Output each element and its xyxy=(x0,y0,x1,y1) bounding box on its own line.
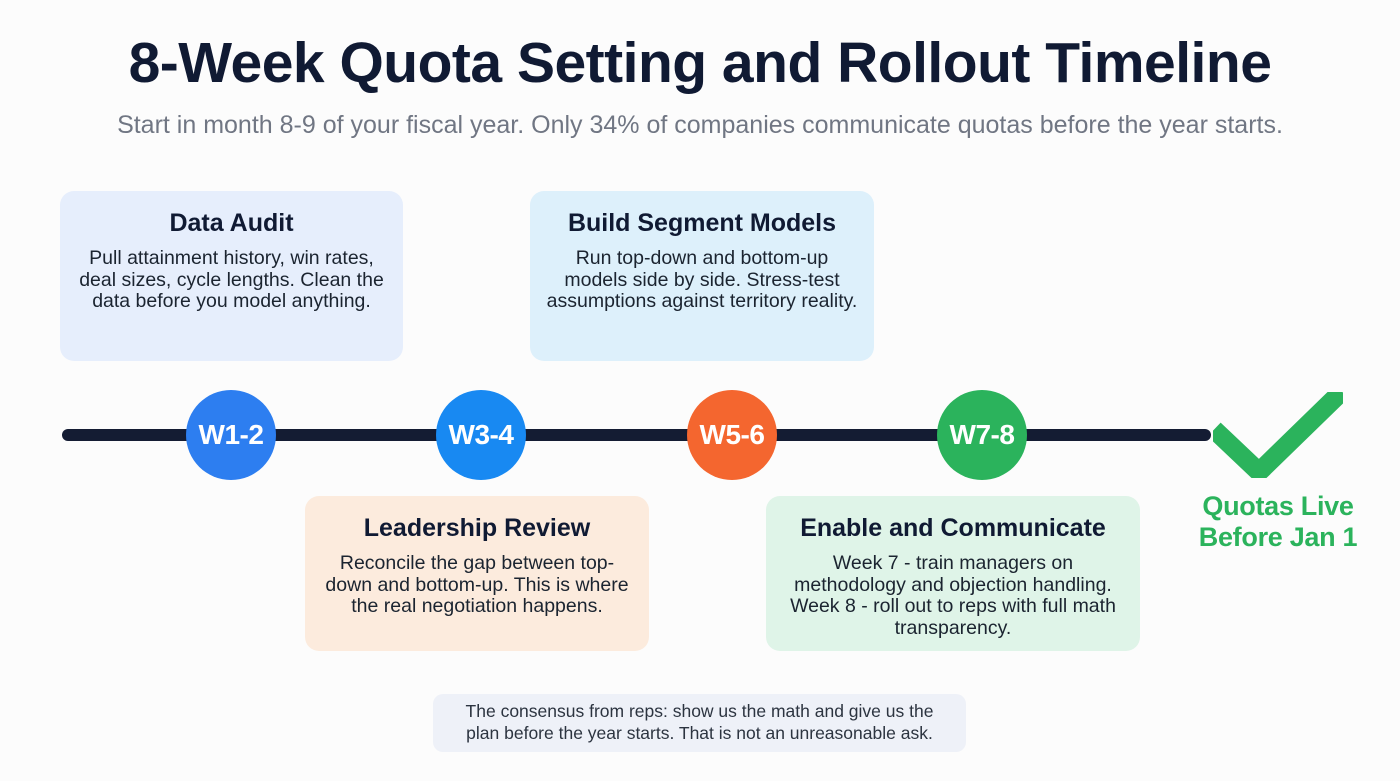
timeline-finish-marker: Quotas Live Before Jan 1 xyxy=(1188,392,1368,553)
finish-label-line-1: Quotas Live xyxy=(1188,491,1368,522)
milestone-card-body: Run top-down and bottom-up models side b… xyxy=(546,248,858,313)
footer-note-text: The consensus from reps: show us the mat… xyxy=(447,701,952,745)
timeline: W1-2 W3-4 W5-6 W7-8 Data Audit Pull atta… xyxy=(0,0,1400,781)
milestone-card-title: Data Audit xyxy=(76,209,387,238)
timeline-node-w1-2[interactable]: W1-2 xyxy=(186,390,276,480)
milestone-card-data-audit: Data Audit Pull attainment history, win … xyxy=(60,191,403,361)
timeline-node-label: W7-8 xyxy=(950,419,1015,451)
timeline-node-w7-8[interactable]: W7-8 xyxy=(937,390,1027,480)
finish-label: Quotas Live Before Jan 1 xyxy=(1188,491,1368,553)
milestone-card-body: Pull attainment history, win rates, deal… xyxy=(76,248,387,313)
timeline-node-w3-4[interactable]: W3-4 xyxy=(436,390,526,480)
milestone-card-leadership-review: Leadership Review Reconcile the gap betw… xyxy=(305,496,649,651)
footer-note: The consensus from reps: show us the mat… xyxy=(433,694,966,752)
checkmark-icon xyxy=(1213,392,1343,478)
milestone-card-title: Build Segment Models xyxy=(546,209,858,238)
milestone-card-enable-and-communicate: Enable and Communicate Week 7 - train ma… xyxy=(766,496,1140,651)
milestone-card-build-segment-models: Build Segment Models Run top-down and bo… xyxy=(530,191,874,361)
finish-label-line-2: Before Jan 1 xyxy=(1188,522,1368,553)
timeline-node-label: W5-6 xyxy=(700,419,765,451)
timeline-node-w5-6[interactable]: W5-6 xyxy=(687,390,777,480)
milestone-card-body: Reconcile the gap between top-down and b… xyxy=(321,553,633,618)
timeline-node-label: W3-4 xyxy=(449,419,514,451)
milestone-card-title: Leadership Review xyxy=(321,514,633,543)
milestone-card-body: Week 7 - train managers on methodology a… xyxy=(782,553,1124,640)
timeline-node-label: W1-2 xyxy=(199,419,264,451)
milestone-card-title: Enable and Communicate xyxy=(782,514,1124,543)
